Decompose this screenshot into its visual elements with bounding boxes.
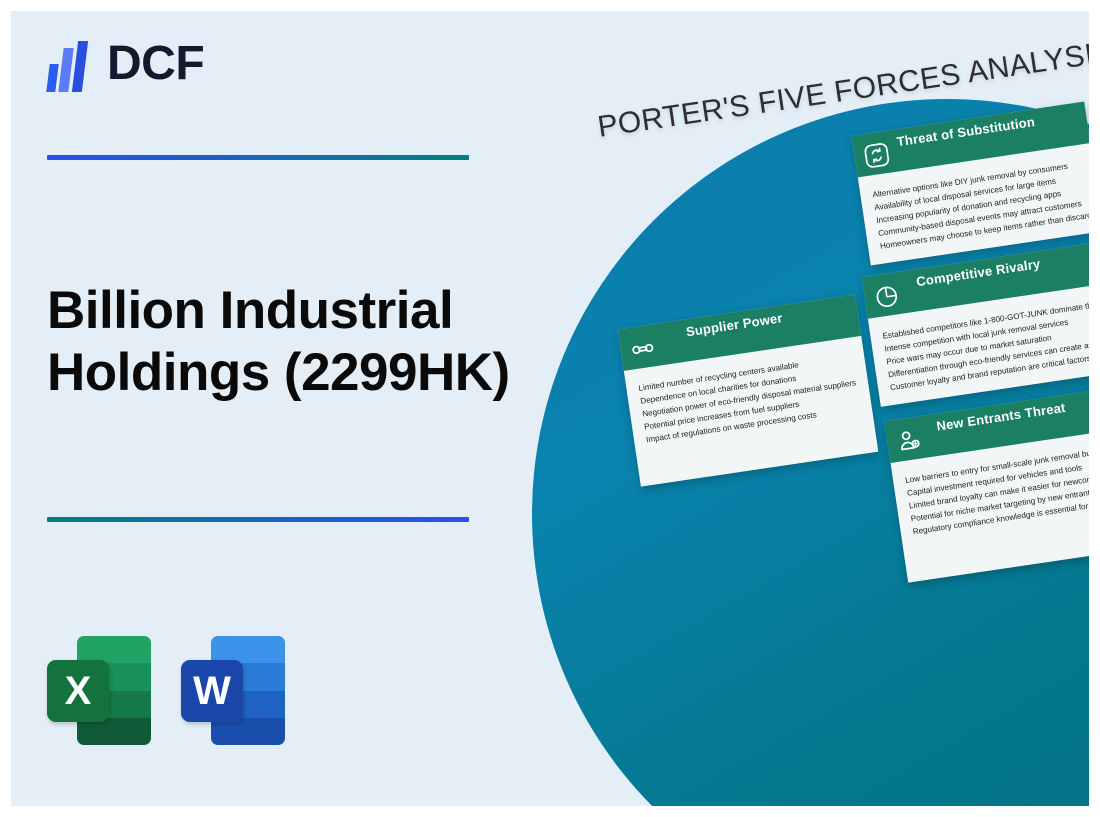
card-bullet-list: Limited number of recycling centers avai… (638, 350, 861, 446)
excel-icon-badge: X (47, 660, 109, 722)
poster-page: DCF Billion Industrial Holdings (2299HK)… (0, 0, 1100, 817)
word-icon-badge: W (181, 660, 243, 722)
porter-infographic: PORTER'S FIVE FORCES ANALYSIS Threat of … (470, 11, 1089, 806)
brand-logo: DCF (47, 36, 204, 92)
frame-border-bottom (0, 806, 1100, 817)
card-bullet-list: Established competitors like 1-800-GOT-J… (882, 298, 1089, 394)
frame-border-top (0, 0, 1100, 11)
excel-icon[interactable]: X (47, 634, 151, 745)
word-icon[interactable]: W (181, 634, 285, 745)
divider-bottom (47, 517, 469, 522)
frame-border-right (1089, 0, 1100, 817)
dcf-bars-logo-icon (47, 36, 93, 92)
brand-name: DCF (107, 40, 204, 88)
word-icon-letter: W (193, 671, 231, 711)
excel-icon-letter: X (65, 671, 92, 711)
card-new-entrants-threat[interactable]: New Entrants Threat Low barriers to entr… (884, 386, 1089, 582)
export-icons: X W (47, 634, 285, 745)
frame-border-left (0, 0, 11, 817)
divider-top (47, 155, 469, 160)
card-bullet-list: Low barriers to entry for small-scale ju… (904, 443, 1089, 539)
page-title: Billion Industrial Holdings (2299HK) (47, 280, 517, 405)
